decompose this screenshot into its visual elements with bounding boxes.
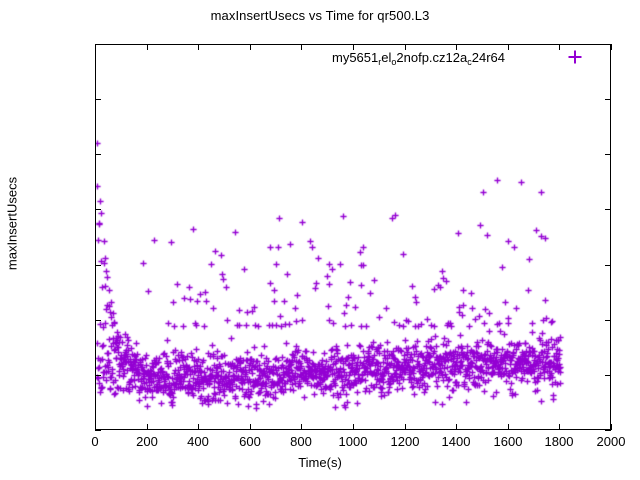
chart-title: maxInsertUsecs vs Time for qr500.L3 <box>0 8 640 23</box>
x-axis-tick-label: 1800 <box>545 434 574 449</box>
x-axis-tick <box>301 424 302 430</box>
x-axis-tick <box>198 44 199 50</box>
x-axis-tick-label: 800 <box>290 434 312 449</box>
y-axis-tick <box>605 99 611 100</box>
y-axis-tick <box>95 320 101 321</box>
y-axis-tick <box>605 430 611 431</box>
y-axis-tick <box>95 430 101 431</box>
y-axis-tick <box>605 265 611 266</box>
y-axis-label: maxInsertUsecs <box>5 154 20 294</box>
x-axis-tick-label: 200 <box>136 434 158 449</box>
x-axis-tick-label: 400 <box>187 434 209 449</box>
x-axis-tick <box>147 424 148 430</box>
chart-root: maxInsertUsecs vs Time for qr500.L3 0500… <box>0 0 640 480</box>
x-axis-tick <box>353 424 354 430</box>
y-axis-tick <box>605 375 611 376</box>
x-axis-tick-label: 600 <box>239 434 261 449</box>
chart-legend: my5651relo2nofp.cz12ac24r64 <box>332 47 505 67</box>
y-axis-tick <box>95 265 101 266</box>
legend-series-label: my5651relo2nofp.cz12ac24r64 <box>332 50 505 65</box>
x-axis-tick-label: 1400 <box>442 434 471 449</box>
y-axis-tick <box>95 154 101 155</box>
x-axis-tick-label: 1600 <box>494 434 523 449</box>
x-axis-tick <box>611 44 612 50</box>
x-axis-tick-label: 1200 <box>391 434 420 449</box>
y-axis-tick <box>605 209 611 210</box>
y-axis-tick <box>95 375 101 376</box>
x-axis-tick <box>250 424 251 430</box>
y-axis-tick <box>95 209 101 210</box>
x-axis-tick <box>456 424 457 430</box>
x-axis-tick <box>611 424 612 430</box>
x-axis-tick <box>559 424 560 430</box>
plot-area <box>95 44 611 430</box>
x-axis-tick <box>198 424 199 430</box>
x-axis-tick <box>147 44 148 50</box>
y-axis-tick <box>95 99 101 100</box>
legend-marker-icon <box>566 48 584 66</box>
x-axis-tick <box>405 424 406 430</box>
y-axis-tick <box>605 320 611 321</box>
x-axis-tick <box>301 44 302 50</box>
x-axis-tick <box>250 44 251 50</box>
scatter-points-canvas <box>96 45 611 430</box>
x-axis-tick-label: 1000 <box>339 434 368 449</box>
x-axis-label: Time(s) <box>0 455 640 470</box>
x-axis-tick-label: 0 <box>91 434 98 449</box>
x-axis-tick <box>508 44 509 50</box>
x-axis-tick <box>559 44 560 50</box>
y-axis-tick <box>605 154 611 155</box>
x-axis-tick <box>508 424 509 430</box>
x-axis-tick <box>95 44 96 50</box>
x-axis-tick <box>95 424 96 430</box>
x-axis-tick-label: 2000 <box>597 434 626 449</box>
